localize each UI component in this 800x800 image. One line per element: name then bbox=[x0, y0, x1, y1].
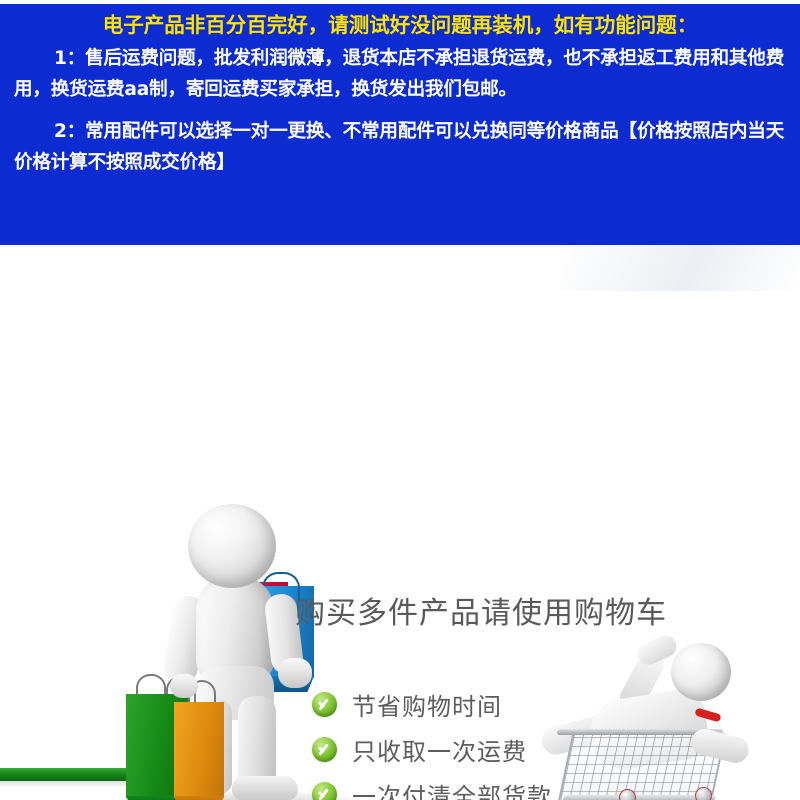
shopper-right-hand bbox=[278, 658, 312, 688]
benefit-item: 一次付清全部货款 bbox=[312, 775, 552, 800]
notice-title: 电子产品非百分百完好，请测试好没问题再装机，如有功能问题： bbox=[14, 10, 786, 40]
check-circle-icon bbox=[312, 737, 337, 762]
benefit-item: 只收取一次运费 bbox=[312, 730, 552, 768]
notice-item-1: 1：售后运费问题，批发利润微薄，退货本店不承担退货运费，也不承担返工费用和其他费… bbox=[14, 44, 786, 105]
shopper-right-foot bbox=[232, 776, 298, 800]
cart-wheel bbox=[619, 789, 636, 800]
promo-banner-page: 电子产品非百分百完好，请测试好没问题再装机，如有功能问题： 1：售后运费问题，批… bbox=[0, 0, 800, 800]
shopper-left-hand bbox=[170, 674, 198, 698]
benefit-list: 节省购物时间 只收取一次运费 一次付清全部货款 bbox=[312, 685, 552, 800]
check-circle-icon bbox=[312, 692, 337, 717]
notice-panel: 电子产品非百分百完好，请测试好没问题再装机，如有功能问题： 1：售后运费问题，批… bbox=[0, 4, 800, 245]
shopper-head bbox=[188, 504, 276, 588]
cart-wheel bbox=[695, 787, 712, 800]
check-circle-icon bbox=[312, 782, 337, 800]
shopping-cart-base bbox=[562, 795, 717, 800]
benefit-label: 节省购物时间 bbox=[352, 687, 502, 722]
background-sheen bbox=[560, 245, 800, 291]
promo-headline: 购买多件产品请使用购物车 bbox=[295, 588, 667, 632]
benefit-label: 只收取一次运费 bbox=[352, 732, 527, 767]
notice-item-2: 2：常用配件可以选择一对一更换、不常用配件可以兑换同等价格商品【价格按照店内当天… bbox=[14, 117, 786, 178]
benefit-item: 节省购物时间 bbox=[312, 685, 552, 723]
cart-figure-illustration bbox=[545, 637, 795, 800]
green-ground-line bbox=[0, 768, 128, 781]
cart-figure-head bbox=[671, 643, 731, 701]
orange-shopping-bag bbox=[174, 702, 224, 798]
promo-section: 购买多件产品请使用购物车 节省购物时间 只收取一次运费 一次付清全部货款 bbox=[0, 245, 800, 800]
benefit-label: 一次付清全部货款 bbox=[352, 777, 552, 800]
